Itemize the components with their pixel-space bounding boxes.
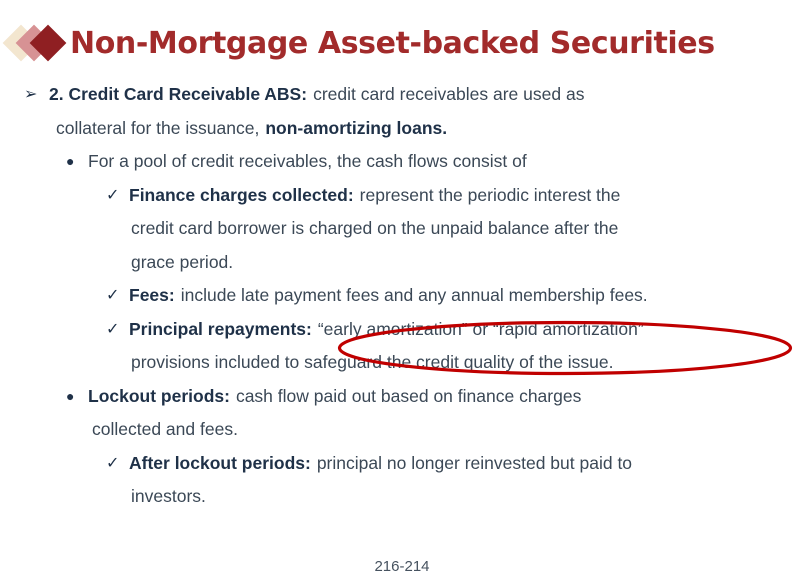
slide-header: Non-Mortgage Asset-backed Securities xyxy=(0,14,804,72)
round-bullet-icon: ● xyxy=(66,380,83,414)
list-item-text: 2. Credit Card Receivable ABS:credit car… xyxy=(49,84,584,104)
list-item-continuation: credit card borrower is charged on the u… xyxy=(0,212,804,246)
list-item-text: Finance charges collected:represent the … xyxy=(129,185,620,205)
list-item-annotated: ✓ Principal repayments:“early amortizati… xyxy=(0,313,804,347)
check-bullet-icon: ✓ xyxy=(106,313,125,347)
round-bullet-icon: ● xyxy=(66,145,83,179)
list-item-body: For a pool of credit receivables, the ca… xyxy=(88,151,527,171)
list-item-lead: After lockout periods: xyxy=(129,453,311,473)
list-item-text: Fees:include late payment fees and any a… xyxy=(129,285,648,305)
list-item: ✓ Fees:include late payment fees and any… xyxy=(0,279,804,313)
check-bullet-icon: ✓ xyxy=(106,179,125,213)
list-item-lead: Fees: xyxy=(129,285,175,305)
list-item-lead: 2. Credit Card Receivable ABS: xyxy=(49,84,307,104)
list-item-continuation: investors. xyxy=(0,480,804,514)
list-item-continuation: collateral for the issuance,non-amortizi… xyxy=(0,112,804,146)
slide-body: ➢ 2. Credit Card Receivable ABS:credit c… xyxy=(0,78,804,514)
list-item-emphasis: non-amortizing loans. xyxy=(265,118,447,138)
list-item: ✓ After lockout periods:principal no lon… xyxy=(0,447,804,481)
list-item-continuation: provisions included to safeguard the cre… xyxy=(0,346,804,380)
list-item-lead: Lockout periods: xyxy=(88,386,230,406)
list-item-text: Principal repayments:“early amortization… xyxy=(129,319,644,339)
list-item-lead: Principal repayments: xyxy=(129,319,312,339)
check-bullet-icon: ✓ xyxy=(106,447,125,481)
list-item: ● Lockout periods:cash flow paid out bas… xyxy=(0,380,804,414)
check-bullet-icon: ✓ xyxy=(106,279,125,313)
list-item-body-highlighted: “early amortization” or “rapid amortizat… xyxy=(318,319,644,339)
list-item-text: After lockout periods:principal no longe… xyxy=(129,453,632,473)
page-title: Non-Mortgage Asset-backed Securities xyxy=(70,26,715,61)
list-item: ● For a pool of credit receivables, the … xyxy=(0,145,804,179)
list-item: ✓ Finance charges collected:represent th… xyxy=(0,179,804,213)
slide-canvas: Non-Mortgage Asset-backed Securities ➢ 2… xyxy=(0,0,804,573)
arrow-bullet-icon: ➢ xyxy=(24,78,43,112)
list-item-body: cash flow paid out based on finance char… xyxy=(236,386,581,406)
list-item-body: represent the periodic interest the xyxy=(360,185,621,205)
list-item-continuation: grace period. xyxy=(0,246,804,280)
diamond-cluster-icon xyxy=(6,20,68,66)
list-item-body: credit card receivables are used as xyxy=(313,84,584,104)
list-item-body: collateral for the issuance, xyxy=(56,118,259,138)
list-item-body: principal no longer reinvested but paid … xyxy=(317,453,632,473)
list-item-continuation: collected and fees. xyxy=(0,413,804,447)
list-item: ➢ 2. Credit Card Receivable ABS:credit c… xyxy=(0,78,804,112)
list-item-lead: Finance charges collected: xyxy=(129,185,354,205)
list-item-body: include late payment fees and any annual… xyxy=(181,285,648,305)
list-item-text: Lockout periods:cash flow paid out based… xyxy=(88,386,581,406)
footer-page-number: 216-214 xyxy=(0,558,804,573)
